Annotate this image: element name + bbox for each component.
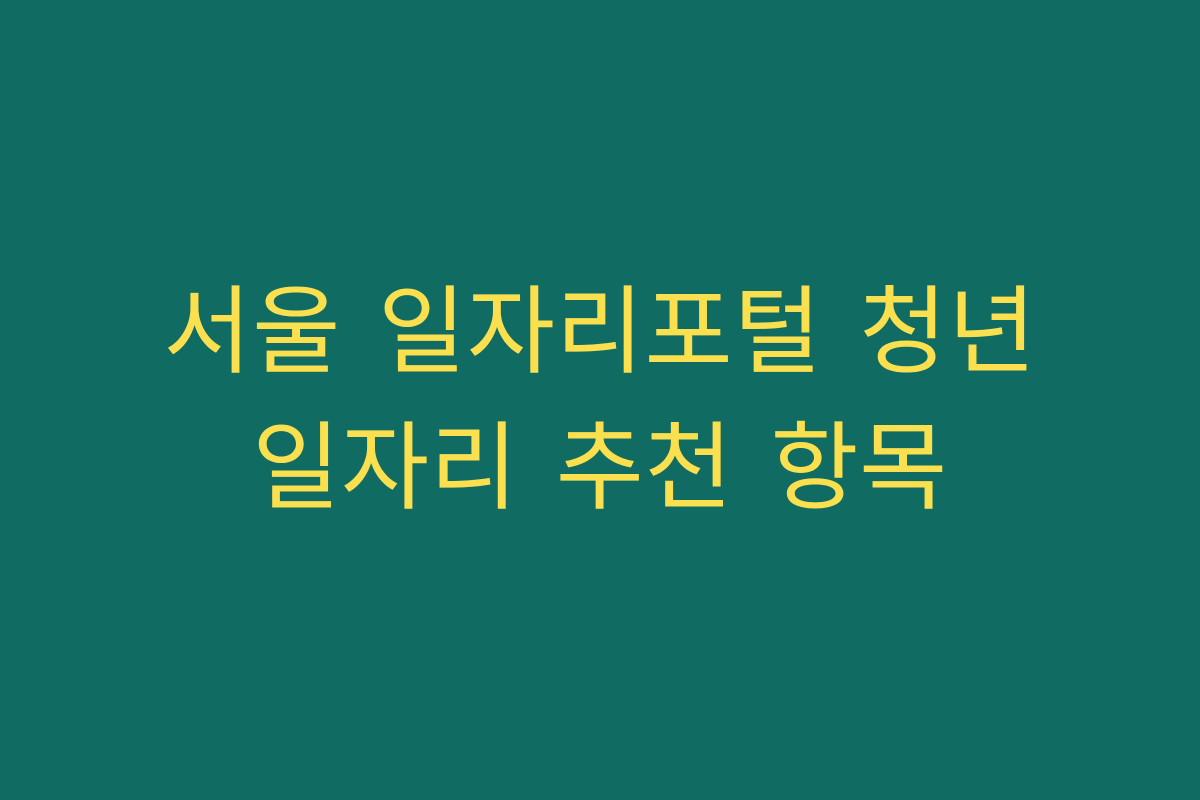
banner-container: 서울 일자리포털 청년 일자리 추천 항목	[0, 0, 1200, 800]
banner-title-text: 서울 일자리포털 청년 일자리 추천 항목	[95, 264, 1105, 537]
